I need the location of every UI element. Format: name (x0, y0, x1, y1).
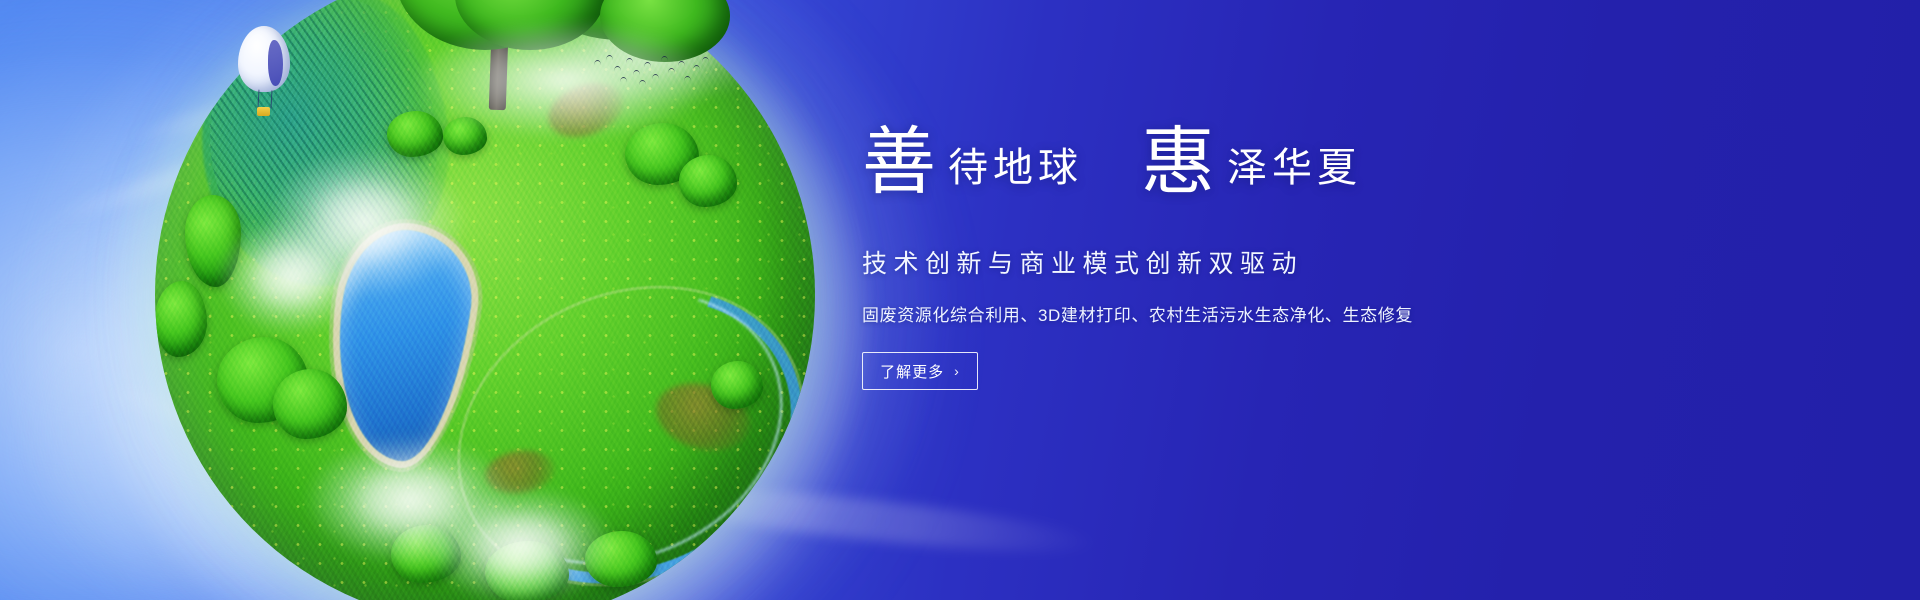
balloon-stripe (268, 40, 283, 86)
bird-icon (626, 58, 633, 63)
cloud-icon (425, 485, 615, 600)
bird-icon (620, 77, 627, 82)
bird-icon (614, 66, 621, 71)
tree-icon (711, 361, 763, 409)
bird-icon (684, 76, 691, 81)
headline-secondary-second: 泽华夏 (1227, 148, 1362, 188)
lake-shape (322, 222, 481, 468)
tree-icon (155, 281, 207, 357)
tree-icon (185, 195, 241, 287)
bird-icon (693, 65, 700, 70)
headline-primary-first: 善 (862, 126, 936, 200)
hot-air-balloon-icon (238, 26, 292, 122)
cloud-icon (217, 217, 367, 335)
bird-icon (668, 68, 675, 73)
soil-patch (648, 373, 758, 461)
soil-patch (482, 446, 557, 497)
learn-more-button[interactable]: 了解更多 › (862, 352, 978, 390)
hero-banner: 善 待地球 惠 泽华夏 技术创新与商业模式创新双驱动 固废资源化综合利用、3D建… (0, 0, 1920, 600)
hero-content: 善 待地球 惠 泽华夏 技术创新与商业模式创新双驱动 固废资源化综合利用、3D建… (862, 126, 1702, 390)
bird-icon (652, 74, 659, 79)
bird-icon (678, 61, 685, 66)
headline-primary-second: 惠 (1141, 126, 1215, 200)
hero-subtitle: 技术创新与商业模式创新双驱动 (862, 244, 1702, 280)
river-shape (413, 236, 815, 600)
tree-icon (217, 337, 309, 423)
tree-icon (391, 525, 461, 583)
headline: 善 待地球 惠 泽华夏 (862, 126, 1702, 218)
cloud-icon (46, 92, 414, 230)
balloon-ropes (258, 90, 273, 109)
chevron-right-icon: › (954, 364, 960, 378)
cloud-icon (305, 435, 515, 565)
tree-icon (485, 541, 569, 600)
bird-icon (644, 62, 651, 67)
bird-flock-icon (592, 52, 712, 94)
learn-more-label: 了解更多 (880, 361, 944, 382)
headline-secondary-first: 待地球 (948, 148, 1083, 188)
hero-description: 固废资源化综合利用、3D建材打印、农村生活污水生态净化、生态修复 (862, 301, 1702, 326)
bird-icon (594, 60, 601, 65)
bird-icon (661, 56, 668, 61)
tree-icon (585, 531, 657, 587)
river-highlight (419, 242, 815, 600)
balloon-basket (257, 107, 270, 116)
tree-icon (273, 369, 347, 439)
cloud-icon (639, 476, 1101, 564)
bird-icon (702, 57, 709, 62)
bird-icon (606, 55, 613, 60)
bird-icon (633, 70, 640, 75)
bird-icon (639, 80, 646, 85)
cloud-icon (94, 373, 506, 518)
